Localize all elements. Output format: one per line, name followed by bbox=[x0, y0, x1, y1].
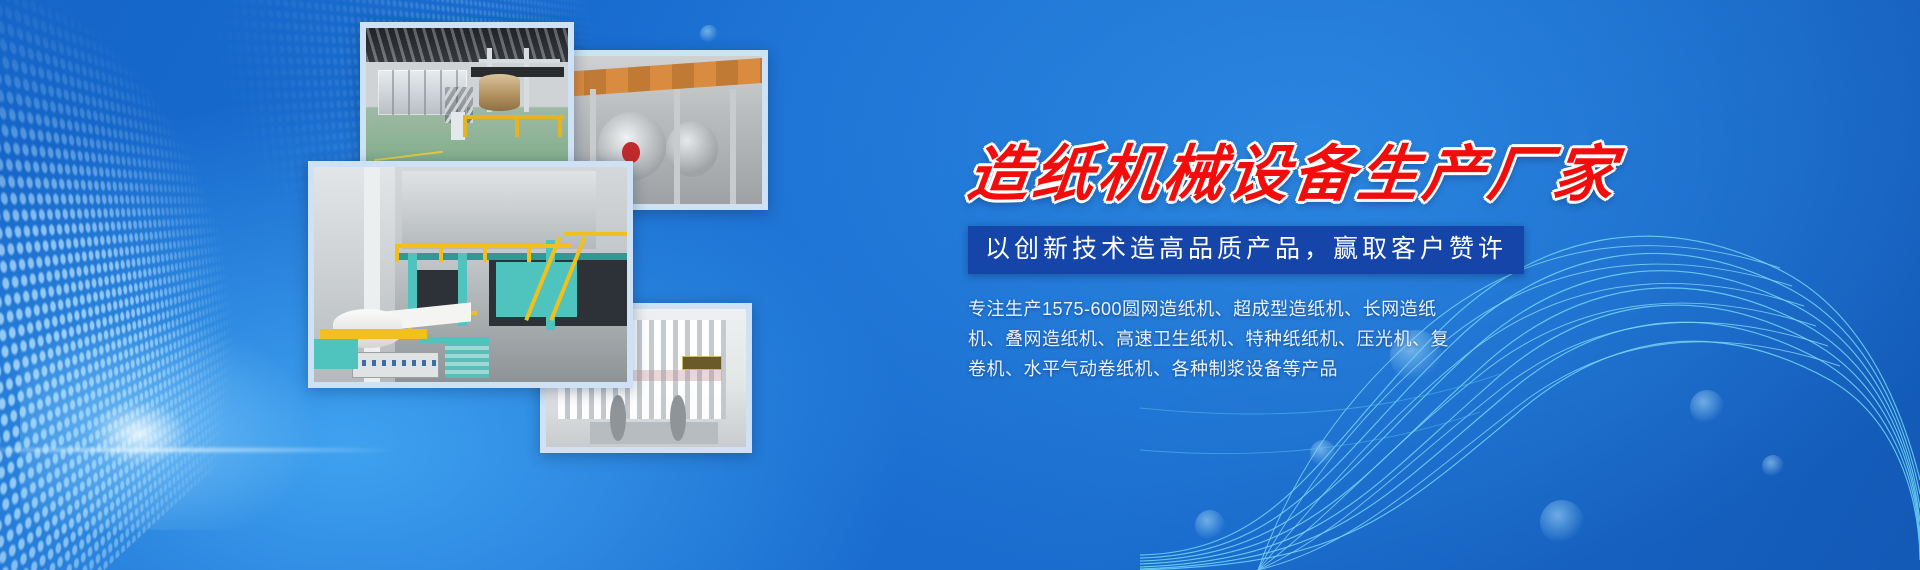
floor-marking bbox=[374, 151, 442, 161]
machine-wheel bbox=[670, 395, 686, 442]
collage-photo-paper-machine-hall[interactable] bbox=[360, 22, 574, 174]
product-description: 专注生产1575-600圆网造纸机、超成型造纸机、长网造纸机、叠网造纸机、高速卫… bbox=[968, 294, 1463, 384]
photo-image bbox=[314, 167, 627, 382]
tissue-machine-line-art bbox=[314, 167, 627, 382]
factory-roof bbox=[366, 28, 568, 62]
safety-railing bbox=[463, 115, 564, 119]
paper-reel bbox=[479, 74, 519, 110]
hood-rib bbox=[424, 70, 426, 115]
teal-beam bbox=[395, 253, 627, 260]
machine-housing bbox=[402, 171, 596, 248]
red-valve bbox=[622, 142, 640, 163]
banner-copy: 造纸机械设备生产厂家 以创新技术造高品质产品，赢取客户赞许 专注生产1575-6… bbox=[968, 140, 1588, 384]
collage-photo-tissue-machine-line[interactable] bbox=[308, 161, 633, 388]
platform-stairs bbox=[445, 339, 489, 378]
subtitle-bar: 以创新技术造高品质产品，赢取客户赞许 bbox=[968, 226, 1524, 274]
roof-beam bbox=[479, 59, 560, 63]
hood-rib bbox=[440, 70, 442, 115]
support-post bbox=[730, 89, 736, 204]
conveyor-guard bbox=[320, 329, 426, 339]
console-buttons bbox=[352, 360, 440, 367]
yellow-railing bbox=[564, 232, 627, 236]
photo-collage bbox=[0, 0, 820, 570]
machine-wheel bbox=[610, 395, 626, 442]
safety-railing bbox=[463, 115, 467, 137]
yellow-railing bbox=[483, 244, 487, 261]
support-post bbox=[674, 89, 680, 204]
hero-banner: 造纸机械设备生产厂家 以创新技术造高品质产品，赢取客户赞许 专注生产1575-6… bbox=[0, 0, 1920, 570]
name-plate bbox=[682, 356, 722, 370]
hood-rib bbox=[408, 70, 410, 115]
operator-console bbox=[352, 352, 440, 378]
roof-beam bbox=[524, 48, 529, 112]
page-title: 造纸机械设备生产厂家 bbox=[964, 140, 1593, 212]
floor-equipment bbox=[590, 422, 718, 444]
paper-machine-hall-art bbox=[366, 28, 568, 168]
teal-machine-block bbox=[314, 339, 358, 369]
safety-railing bbox=[558, 115, 562, 137]
hood-rib bbox=[392, 70, 394, 115]
photo-image bbox=[366, 28, 568, 168]
yellow-railing bbox=[439, 244, 443, 261]
platform-deck bbox=[420, 337, 489, 343]
product-description-text: 专注生产1575-600圆网造纸机、超成型造纸机、长网造纸机、叠网造纸机、高速卫… bbox=[968, 294, 1463, 384]
yellow-railing bbox=[527, 244, 531, 261]
yellow-railing bbox=[395, 244, 399, 261]
structural-column bbox=[364, 167, 380, 382]
safety-railing bbox=[515, 115, 519, 137]
